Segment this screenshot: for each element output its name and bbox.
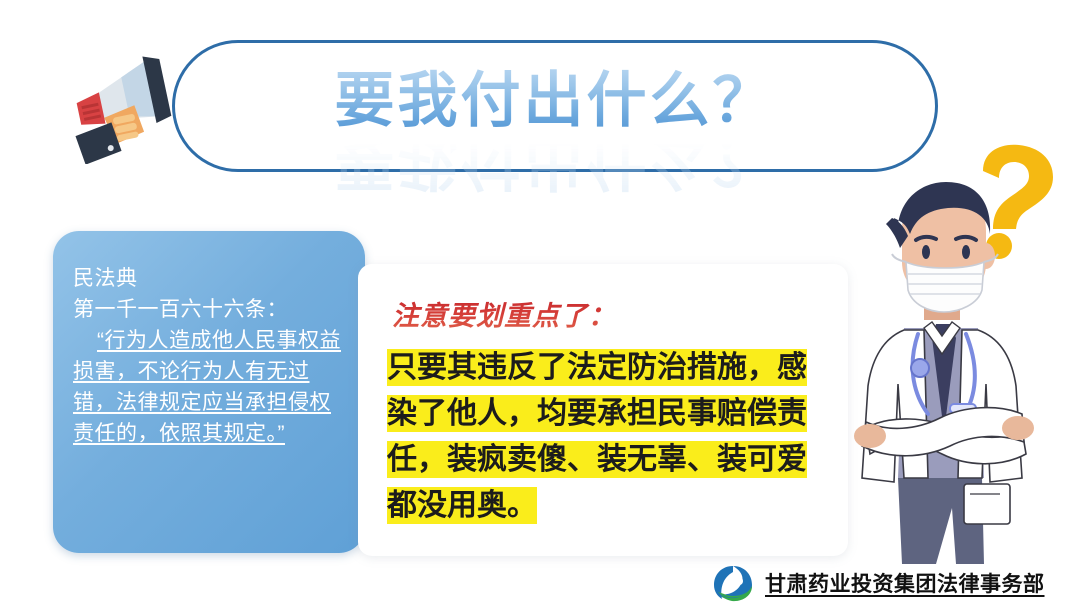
key-point-body: 只要其违反了法定防治措施，感染了他人，均要承担民事赔偿责任，装疯卖傻、装无辜、装… xyxy=(387,345,807,529)
slide-canvas: 要我付出什么？ 要我付出什么？ 民法典 第一千一百六十六条： “行为人造成他人民… xyxy=(0,0,1080,608)
footer-organization: 甘肃药业投资集团法律事务部 xyxy=(765,568,1045,598)
megaphone-icon xyxy=(52,46,190,164)
doctor-illustration xyxy=(832,178,1054,568)
key-point-heading: 注意要划重点了： xyxy=(392,294,616,333)
highlighted-text: 只要其违反了法定防治措施，感染了他人，均要承担民事赔偿责任，装疯卖傻、装无辜、装… xyxy=(387,349,807,524)
law-code-name: 民法典 xyxy=(73,263,349,294)
law-article-card: 民法典 第一千一百六十六条： “行为人造成他人民事权益损害，不论行为人有无过错，… xyxy=(53,231,365,553)
page-title: 要我付出什么？ xyxy=(172,62,938,140)
company-logo-icon xyxy=(712,564,754,602)
law-article-number: 第一千一百六十六条： xyxy=(73,294,349,325)
footer: 甘肃药业投资集团法律事务部 xyxy=(712,564,1045,602)
law-article-quote: “行为人造成他人民事权益损害，不论行为人有无过错，法律规定应当承担侵权责任的，依… xyxy=(73,325,349,449)
